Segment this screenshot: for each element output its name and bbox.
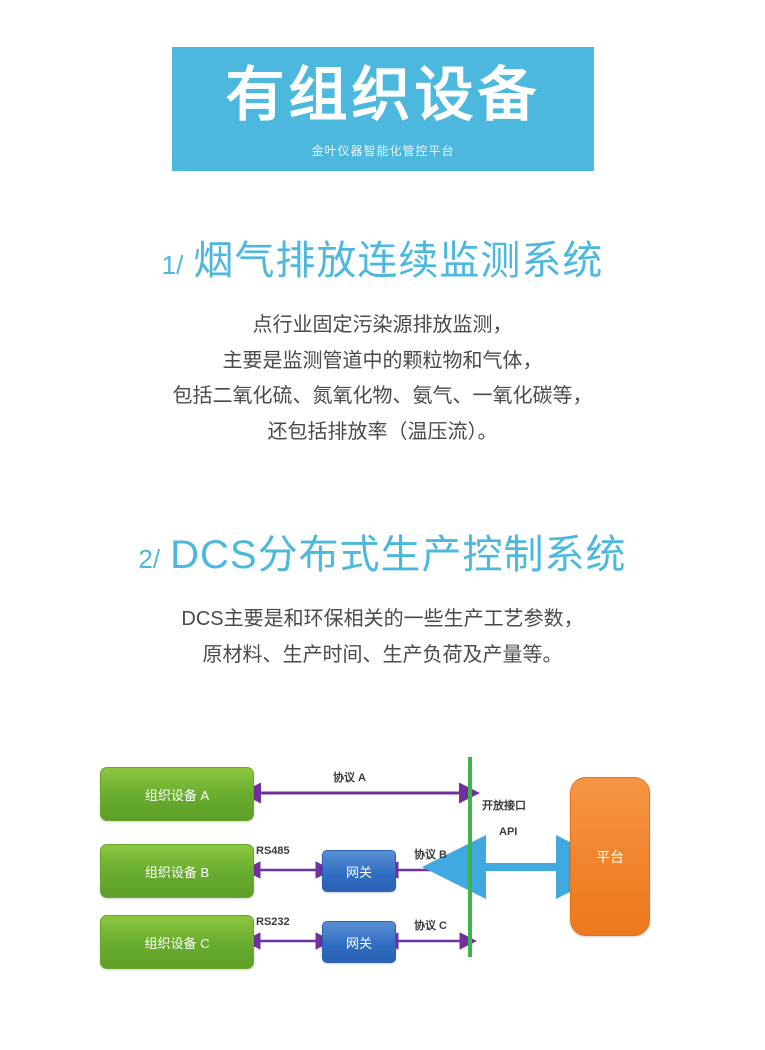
section-1-number: 1/ — [162, 250, 184, 281]
section-1-line-4: 还包括排放率（温压流）。 — [0, 415, 765, 451]
gateway-box-2[interactable]: 网关 — [322, 921, 396, 963]
header-banner: 有组织设备 金叶仪器智能化管控平台 — [172, 47, 594, 171]
device-box-c-label: 组织设备 C — [144, 933, 209, 952]
gateway-box-2-label: 网关 — [346, 933, 372, 952]
section-2-line-2: 原材料、生产时间、生产负荷及产量等。 — [0, 638, 765, 674]
section-1-body: 点行业固定污染源排放监测， 主要是监测管道中的颗粒物和气体， 包括二氧化硫、氮氧… — [0, 308, 765, 450]
page-title: 有组织设备 — [225, 65, 540, 127]
section-2-title: DCS分布式生产控制系统 — [170, 522, 626, 580]
section-2: 2/ DCS分布式生产控制系统 DCS主要是和环保相关的一些生产工艺参数， 原材… — [0, 522, 765, 673]
interface-label-line1: 开放接口 — [482, 797, 526, 813]
architecture-diagram: 组织设备 A 组织设备 B 组织设备 C 网关 网关 平台 协议 A 协议 B … — [0, 735, 765, 995]
device-box-c[interactable]: 组织设备 C — [100, 915, 254, 969]
section-2-body: DCS主要是和环保相关的一些生产工艺参数， 原材料、生产时间、生产负荷及产量等。 — [0, 602, 765, 673]
section-1-line-3: 包括二氧化硫、氮氧化物、氨气、一氧化碳等， — [0, 379, 765, 415]
section-2-line-1: DCS主要是和环保相关的一些生产工艺参数， — [0, 602, 765, 638]
protocol-label-c: 协议 C — [414, 917, 447, 933]
gateway-box-1[interactable]: 网关 — [322, 850, 396, 892]
bus-label-rs232: RS232 — [256, 916, 290, 928]
interface-label-line2: API — [499, 826, 517, 838]
device-box-b[interactable]: 组织设备 B — [100, 844, 254, 898]
device-box-b-label: 组织设备 B — [145, 862, 209, 881]
protocol-label-a: 协议 A — [333, 769, 366, 785]
bus-label-rs485: RS485 — [256, 845, 290, 857]
section-1-line-2: 主要是监测管道中的颗粒物和气体， — [0, 344, 765, 380]
platform-box-label: 平台 — [596, 847, 624, 867]
device-box-a[interactable]: 组织设备 A — [100, 767, 254, 821]
protocol-label-b: 协议 B — [414, 846, 447, 862]
boundary-divider-line — [468, 757, 472, 957]
section-2-heading: 2/ DCS分布式生产控制系统 — [0, 522, 765, 580]
section-1-heading: 1/ 烟气排放连续监测系统 — [0, 228, 765, 286]
platform-box[interactable]: 平台 — [570, 777, 650, 936]
section-1-line-1: 点行业固定污染源排放监测， — [0, 308, 765, 344]
device-box-a-label: 组织设备 A — [145, 785, 209, 804]
section-1: 1/ 烟气排放连续监测系统 点行业固定污染源排放监测， 主要是监测管道中的颗粒物… — [0, 228, 765, 450]
page-subtitle: 金叶仪器智能化管控平台 — [311, 142, 454, 159]
section-2-number: 2/ — [138, 544, 160, 575]
section-1-title: 烟气排放连续监测系统 — [193, 228, 603, 286]
gateway-box-1-label: 网关 — [346, 862, 372, 881]
